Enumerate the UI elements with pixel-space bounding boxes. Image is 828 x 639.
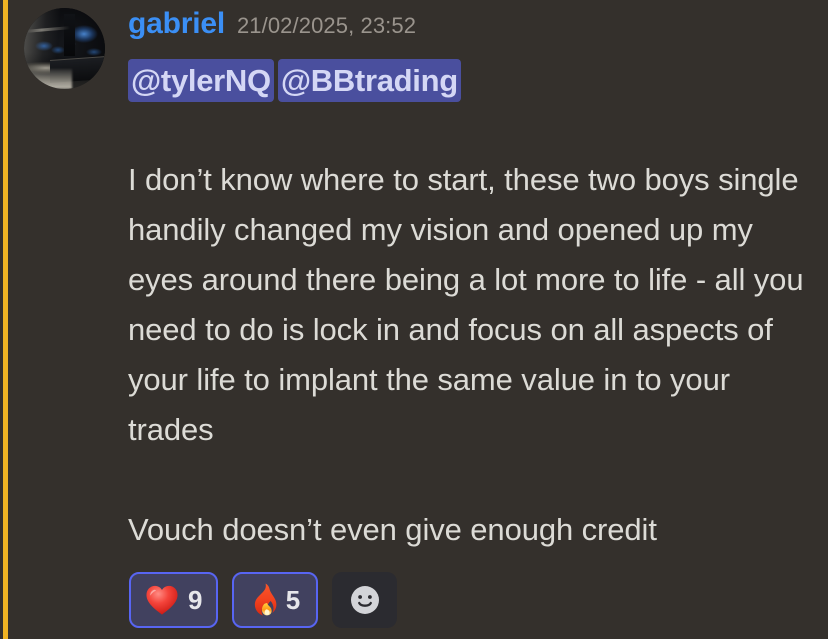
message-paragraph-1: I don’t know where to start, these two b… <box>128 155 818 455</box>
message-header: gabriel 21/02/2025, 23:52 <box>128 9 416 39</box>
message-author-name[interactable]: gabriel <box>128 9 225 39</box>
avatar-image <box>24 8 105 89</box>
avatar-detail-floor <box>24 69 72 89</box>
mention-tylernq[interactable]: @tylerNQ <box>128 59 274 102</box>
add-reaction-smiley-icon <box>348 583 382 617</box>
message-timestamp: 21/02/2025, 23:52 <box>237 15 416 37</box>
paragraph-spacer <box>128 455 818 505</box>
chat-message: gabriel 21/02/2025, 23:52 @tylerNQ @BBtr… <box>0 0 828 639</box>
reaction-pill-heart[interactable]: 9 <box>129 572 218 628</box>
avatar[interactable] <box>24 8 105 89</box>
message-highlight-stripe <box>3 0 8 639</box>
message-reactions: 9 <box>129 572 397 628</box>
message-body: I don’t know where to start, these two b… <box>128 155 818 555</box>
reaction-count-heart: 9 <box>188 587 202 613</box>
fire-icon <box>251 583 277 617</box>
message-paragraph-2: Vouch doesn’t even give enough credit <box>128 505 818 555</box>
avatar-detail-pillar <box>64 14 75 56</box>
reaction-pill-fire[interactable]: 5 <box>232 572 318 628</box>
message-mentions: @tylerNQ @BBtrading <box>128 59 461 102</box>
red-heart-icon <box>145 584 179 616</box>
reaction-count-fire: 5 <box>286 587 300 613</box>
add-reaction-button[interactable] <box>332 572 397 628</box>
mention-bbtrading[interactable]: @BBtrading <box>278 59 461 102</box>
